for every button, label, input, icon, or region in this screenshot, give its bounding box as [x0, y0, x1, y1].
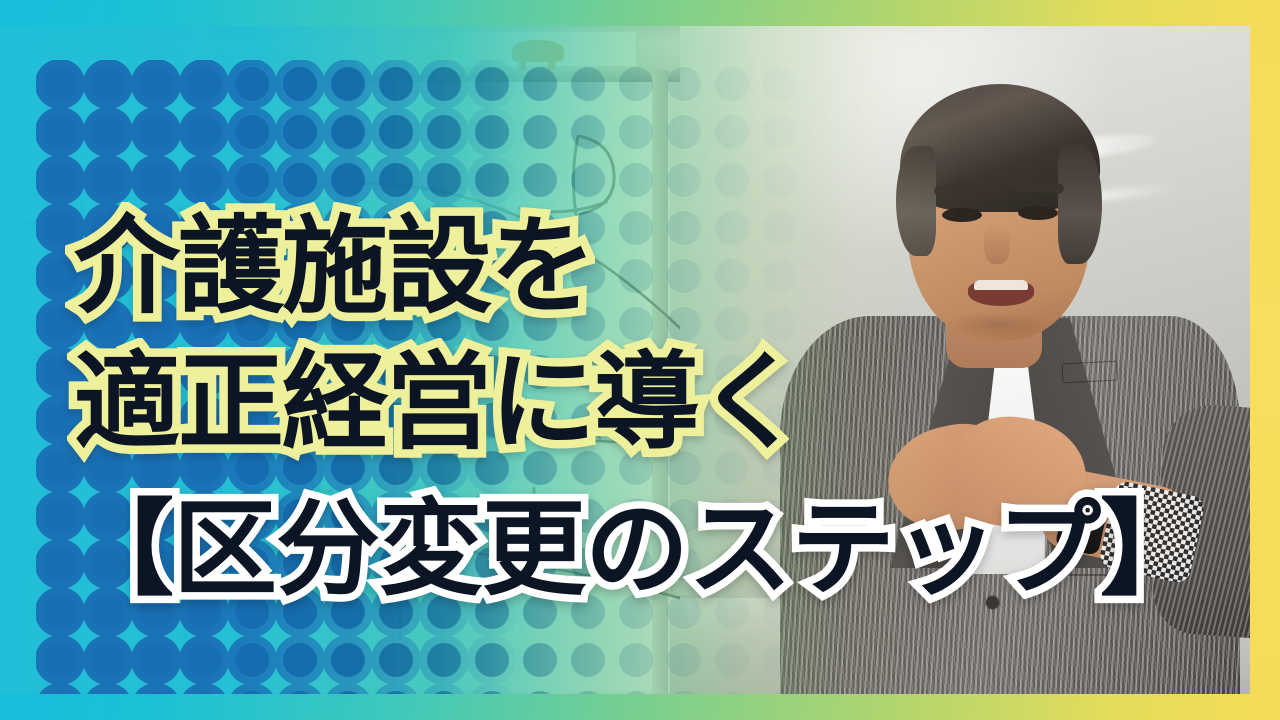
title-text-block: 介護施設を 適正経営に導く 【区分変更のステップ】: [0, 0, 1280, 720]
title-line-1: 介護施設を: [74, 180, 594, 334]
title-line-2: 適正経営に導く: [74, 316, 802, 470]
video-thumbnail: 介護施設を 適正経営に導く 【区分変更のステップ】: [0, 0, 1280, 720]
title-line-3: 【区分変更のステップ】: [70, 464, 1203, 615]
